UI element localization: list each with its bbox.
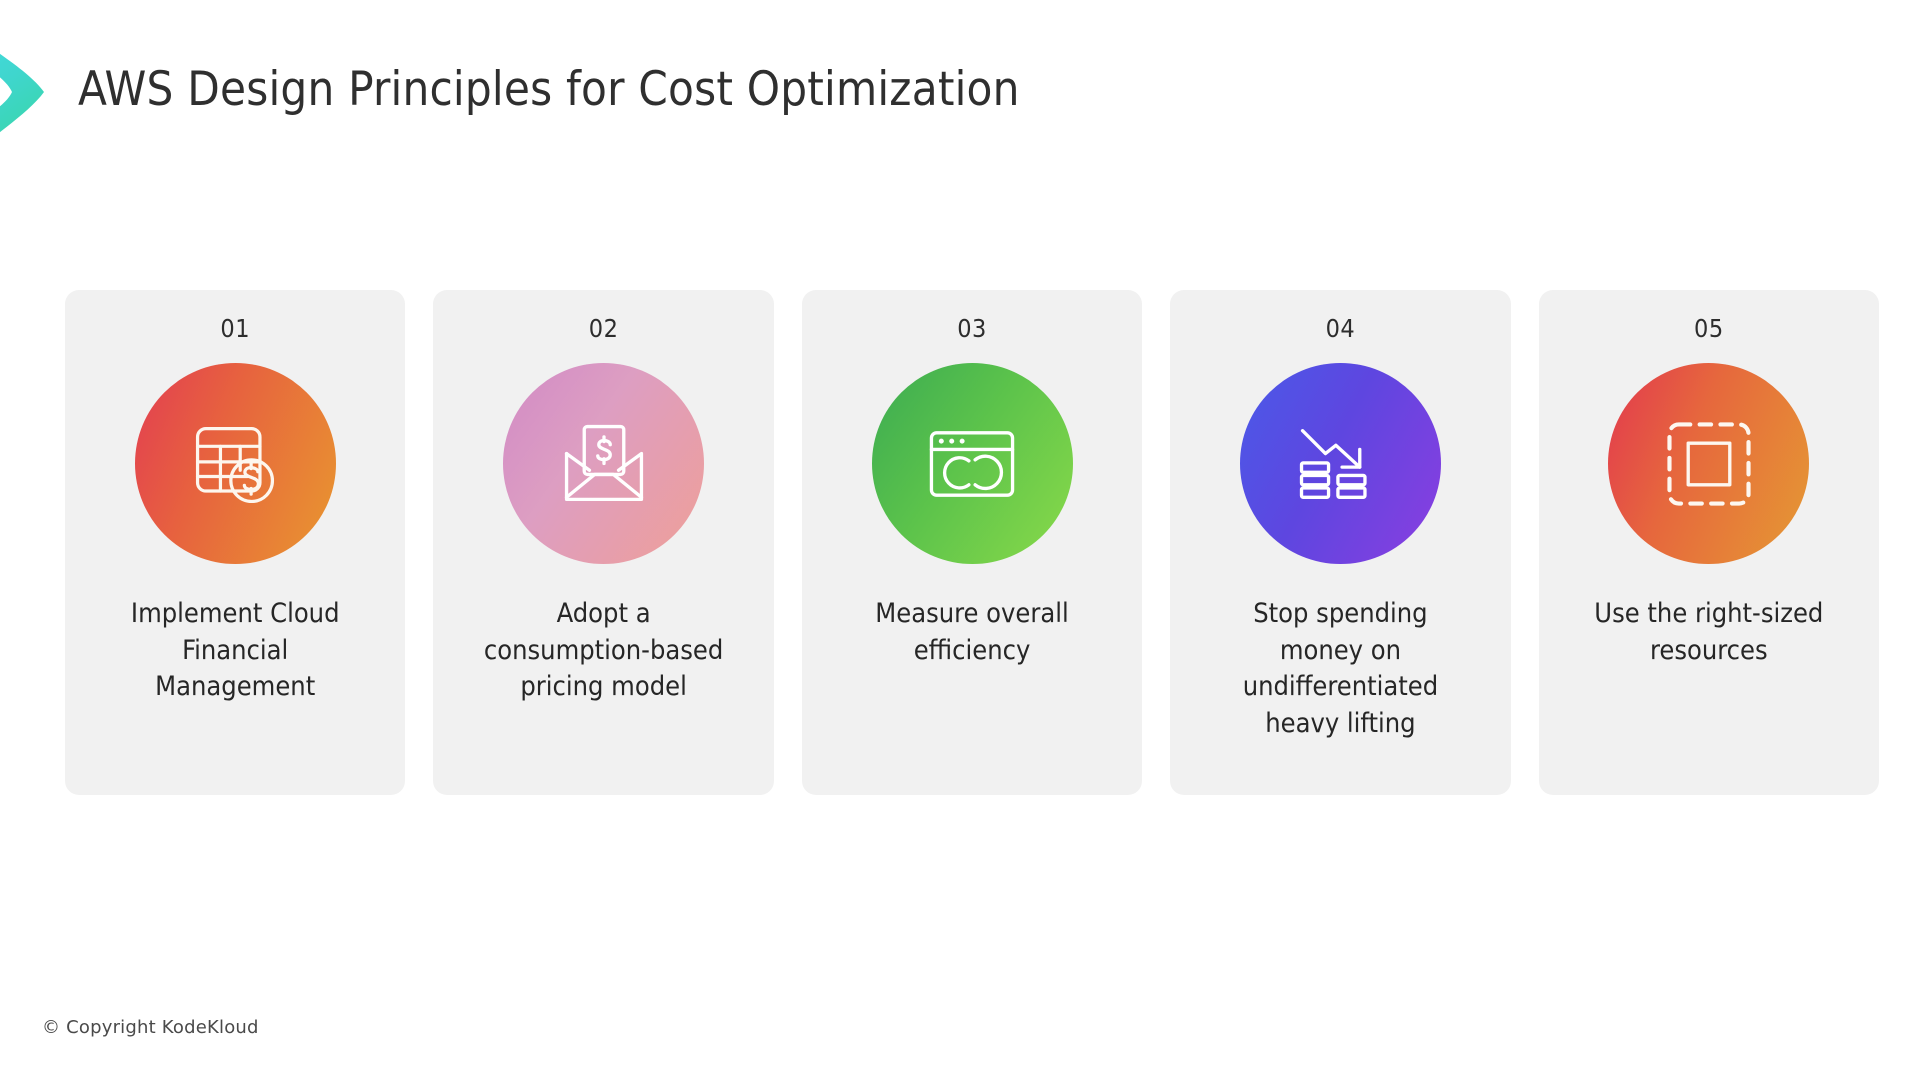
- page-title: AWS Design Principles for Cost Optimizat…: [78, 62, 1020, 117]
- principle-card-01[interactable]: 01 Implement Cloud Financial Management: [65, 290, 405, 795]
- card-label: Use the right-sized resources: [1579, 596, 1839, 669]
- card-number: 05: [1694, 316, 1724, 341]
- card-label: Adopt a consumption-based pricing model: [474, 596, 734, 706]
- card-label: Measure overall efficiency: [842, 596, 1102, 669]
- card-label: Implement Cloud Financial Management: [105, 596, 365, 706]
- card-number: 01: [220, 316, 250, 341]
- browser-gauges-icon: [872, 363, 1073, 564]
- declining-chart-coins-icon: [1240, 363, 1441, 564]
- kodekloud-chevron-logo: [0, 8, 62, 180]
- principle-card-03[interactable]: 03 Measure overall efficiency: [802, 290, 1142, 795]
- card-number: 03: [957, 316, 987, 341]
- resize-square-icon: [1608, 363, 1809, 564]
- principles-card-grid: 01 Implement Cloud Financial Management …: [65, 290, 1879, 795]
- envelope-dollar-icon: [503, 363, 704, 564]
- footer-copyright: © Copyright KodeKloud: [42, 1017, 259, 1038]
- principle-card-04[interactable]: 04 Stop spending money on undifferentiat…: [1170, 290, 1510, 795]
- card-number: 04: [1326, 316, 1356, 341]
- card-number: 02: [589, 316, 619, 341]
- principle-card-02[interactable]: 02 Adopt a consumption-based pricing mod…: [433, 290, 773, 795]
- spreadsheet-dollar-icon: [135, 363, 336, 564]
- card-label: Stop spending money on undifferentiated …: [1210, 596, 1470, 743]
- principle-card-05[interactable]: 05 Use the right-sized resources: [1539, 290, 1879, 795]
